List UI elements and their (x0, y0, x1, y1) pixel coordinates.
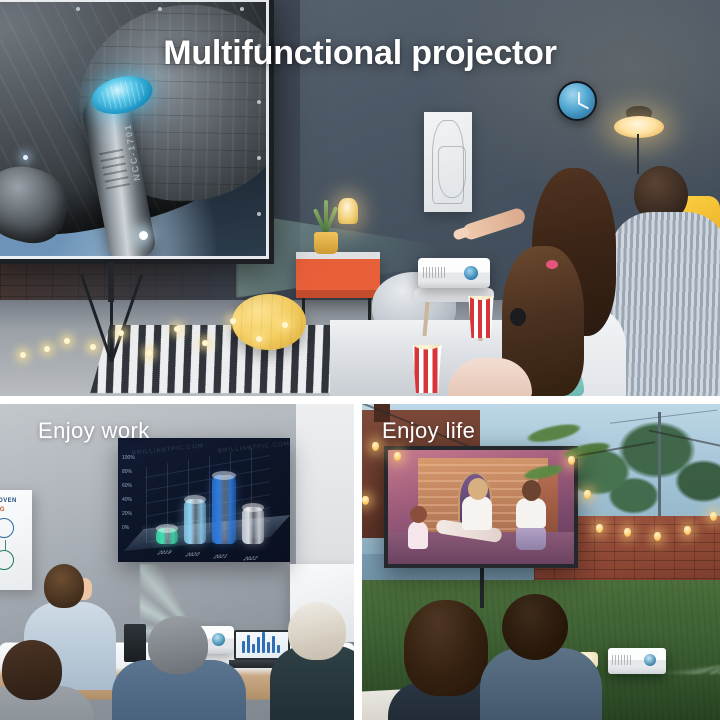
wall-lamp-icon (614, 112, 664, 172)
table-lamp-icon (338, 198, 358, 224)
light-bulb-icon (230, 318, 236, 324)
y-tick: 20% (122, 512, 132, 517)
laptop-chart-bar (252, 644, 255, 653)
hero-side-table (296, 252, 380, 298)
light-bulb-icon (118, 330, 124, 336)
person-hair (404, 600, 488, 696)
character-head (410, 506, 427, 523)
tripod-pole (108, 262, 114, 302)
light-bulb-icon (596, 524, 603, 533)
caption-enjoy-life: Enjoy life (382, 418, 475, 444)
light-bulb-icon (20, 352, 26, 358)
person-head (148, 616, 208, 674)
headphone-icon (510, 308, 526, 326)
panel-divider-vertical (354, 404, 362, 720)
person-man-viewer (488, 594, 592, 720)
panel-divider-horizontal (0, 396, 720, 404)
caption-enjoy-work: Enjoy work (38, 418, 150, 444)
light-bulb-icon (64, 338, 70, 344)
wall-clock-icon (557, 81, 597, 121)
projector-lens-icon (644, 654, 656, 666)
spaceship-light (139, 231, 148, 240)
movie-character-child (406, 506, 432, 548)
laptop-chart-bar (262, 632, 265, 653)
panel-enjoy-life: Enjoy life (362, 404, 720, 720)
light-bulb-icon (202, 340, 208, 346)
promo-banner: NCC-1701 (0, 0, 720, 720)
laptop-chart-bar (257, 637, 260, 653)
person-colleague-center (116, 616, 240, 720)
light-bulb-icon (362, 496, 369, 505)
light-bulb-icon (372, 442, 379, 451)
chart-bar (212, 475, 236, 544)
chart-bar (242, 507, 264, 544)
person-colleague-right (266, 602, 354, 720)
light-bulb-icon (256, 336, 262, 342)
flipchart-circle (0, 518, 14, 538)
projector-vent (423, 267, 445, 278)
light-bulb-icon (394, 452, 401, 461)
flipchart-title-1: PROVEN (0, 498, 17, 504)
person-head (2, 640, 62, 700)
person-colleague-left (0, 640, 86, 720)
person-head (288, 602, 346, 660)
person-head (44, 564, 84, 608)
watermark: BRILLIANTPIC.COM (132, 443, 204, 456)
laptop-chart-bar (242, 641, 245, 653)
hair-tie (546, 260, 558, 269)
character-legs (516, 526, 546, 550)
light-bulb-icon (568, 456, 575, 465)
person-body (610, 212, 720, 396)
movie-character-woman (450, 478, 508, 554)
chart-bar (184, 499, 206, 544)
panel-enjoy-work: PROVEN TING BRILLIANTPIC.COM BRILLIANTPI… (0, 404, 354, 720)
y-tick: 40% (122, 498, 132, 503)
character-body (408, 521, 428, 549)
light-bulb-icon (44, 346, 50, 352)
lamp-shade (614, 116, 664, 138)
work-projection-screen: BRILLIANTPIC.COM BRILLIANTPIC.COM BRILLI… (118, 438, 290, 562)
hero-panel: NCC-1701 (0, 0, 720, 396)
hero-wall-art (424, 112, 472, 212)
spaceship-light (23, 155, 28, 160)
y-tick: 0% (122, 526, 129, 531)
character-head (468, 478, 488, 500)
light-bulb-icon (584, 490, 591, 499)
bar-label: 2019 (155, 550, 173, 556)
bar-label: 2021 (211, 554, 229, 560)
flipchart-title-2: TING (0, 507, 5, 513)
bar-label: 2020 (183, 552, 201, 558)
bar-label: 2022 (241, 556, 259, 562)
y-tick: 60% (122, 484, 132, 489)
light-bulb-icon (282, 322, 288, 328)
light-bulb-icon (90, 344, 96, 350)
page-title: Multifunctional projector (0, 34, 720, 73)
y-tick: 80% (122, 470, 132, 475)
flipchart-arrow (5, 540, 6, 550)
person-hair (502, 594, 568, 660)
light-bulb-icon (710, 512, 717, 521)
chart-bar (156, 528, 178, 544)
flipchart-circle (0, 550, 14, 570)
person-father (610, 166, 720, 396)
chart-bars: 2019 2020 2021 2022 (150, 458, 280, 546)
light-bulb-icon (684, 526, 691, 535)
chart-y-axis: 100% 80% 60% 40% 20% 0% (122, 456, 148, 538)
character-body (462, 496, 492, 530)
light-bulb-icon (174, 326, 180, 332)
light-bulb-icon (654, 532, 661, 541)
laptop-chart-bar (247, 635, 250, 653)
string-lights (60, 300, 320, 360)
y-tick: 100% (122, 456, 135, 461)
plant-pot (314, 232, 338, 254)
projector-vent (612, 655, 632, 665)
projector-device (608, 648, 666, 674)
light-bulb-icon (146, 350, 152, 356)
light-bulb-icon (624, 528, 631, 537)
